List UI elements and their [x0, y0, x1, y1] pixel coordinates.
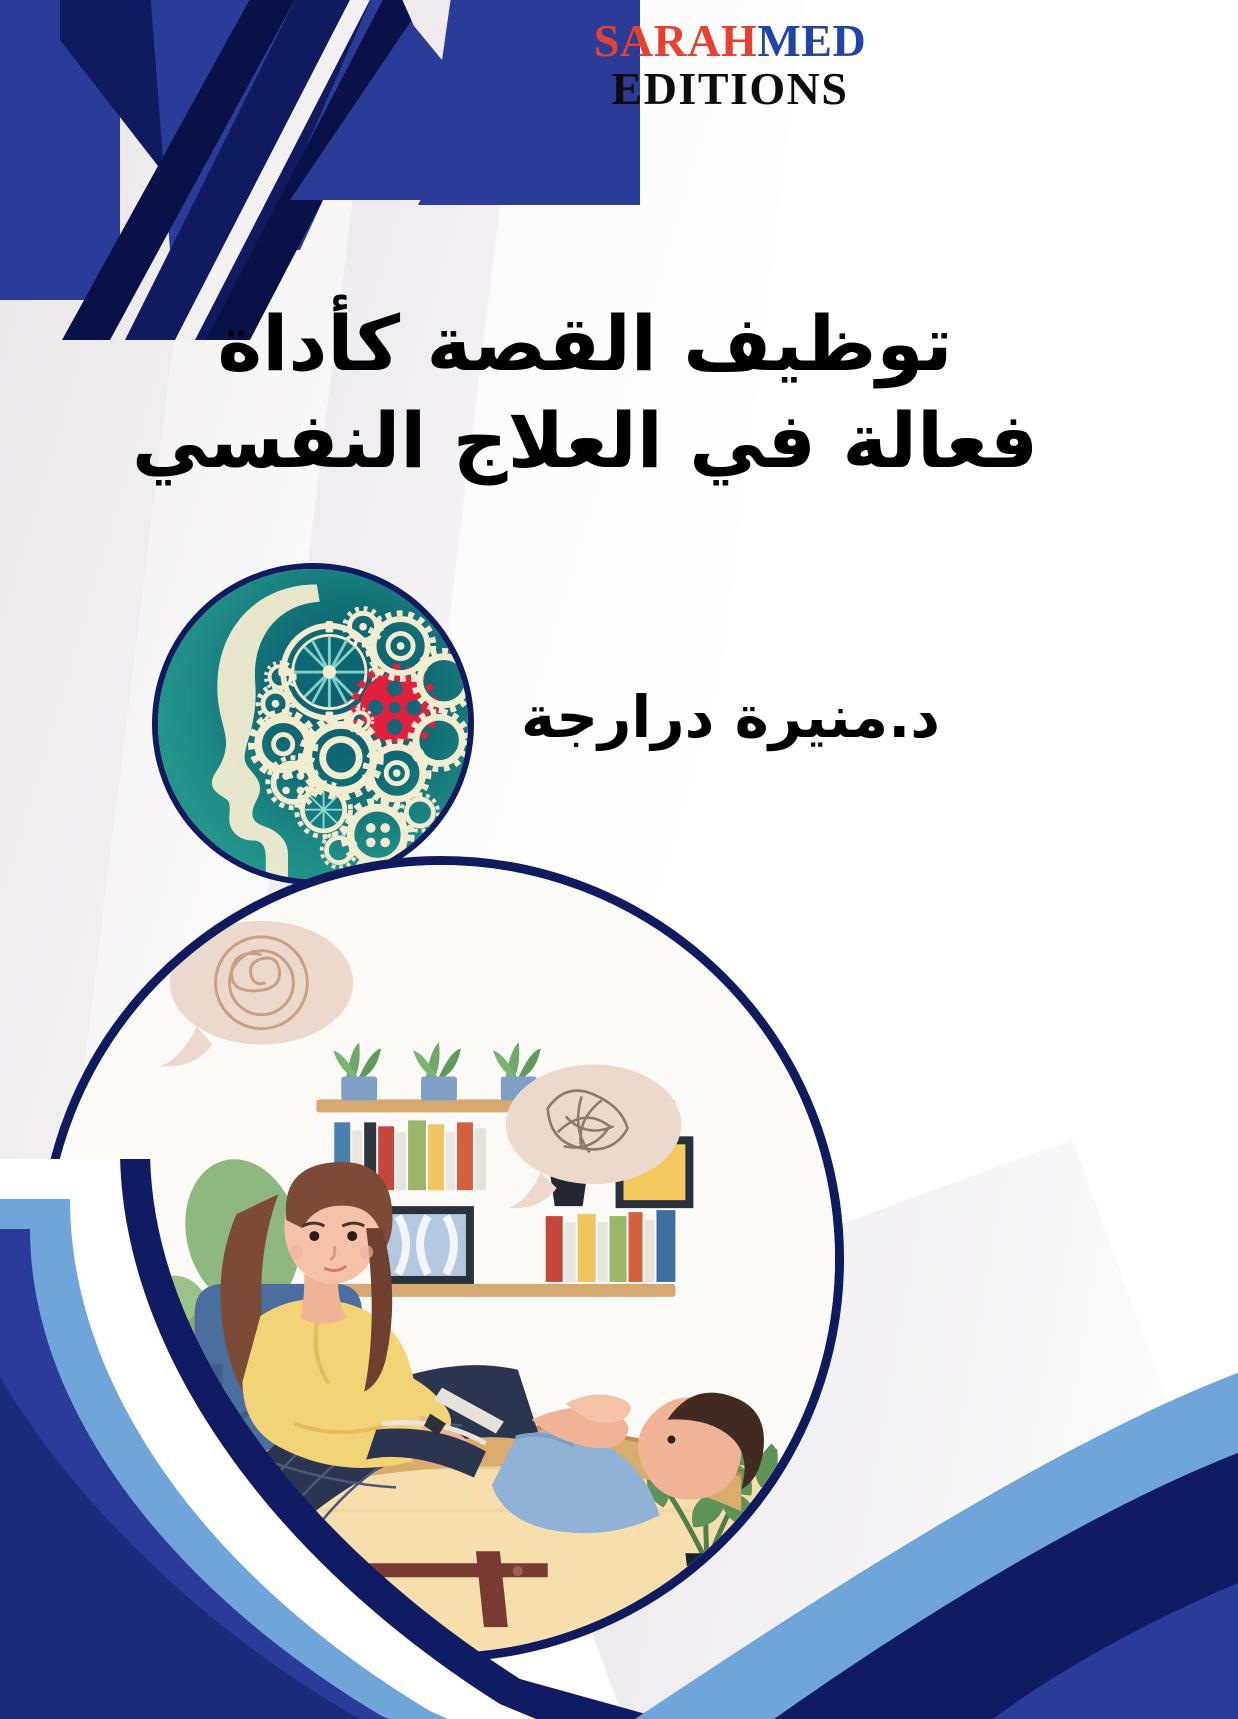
therapist-eye-left [309, 1231, 319, 1241]
brain-gears-graphic [158, 569, 468, 879]
therapy-scene-graphic [47, 865, 835, 1653]
therapist-eye-right [347, 1231, 357, 1241]
gear-mid-left [266, 662, 295, 691]
publisher-name: SARAHMED [520, 18, 940, 64]
book-author: د.منيرة درارجة [460, 686, 940, 750]
plant-pot-right [685, 1553, 741, 1611]
publisher-name-part2: MED [757, 15, 866, 66]
gear-large-hub [323, 665, 336, 678]
gear-cluster [251, 608, 468, 868]
publisher-logo: SARAHMED EDITIONS [520, 18, 940, 112]
book-title-line-2: فعالة في العلاج النفسي [120, 392, 1050, 489]
publisher-subtitle: EDITIONS [520, 66, 940, 112]
psychotherapy-session-illustration [38, 856, 844, 1662]
head-profile-with-gears-illustration [152, 563, 474, 885]
gear-tiny-right [402, 794, 439, 831]
gear-lower-left [268, 758, 318, 808]
publisher-name-part1: SARAH [594, 15, 758, 66]
book-cover: SARAHMED EDITIONS توظيف القصة كأداة فعال… [0, 0, 1238, 1719]
gear-right-edge [414, 651, 468, 711]
book-title-line-1: توظيف القصة كأداة [217, 299, 952, 388]
book-title: توظيف القصة كأداة فعالة في العلاج النفسي [120, 295, 1050, 490]
